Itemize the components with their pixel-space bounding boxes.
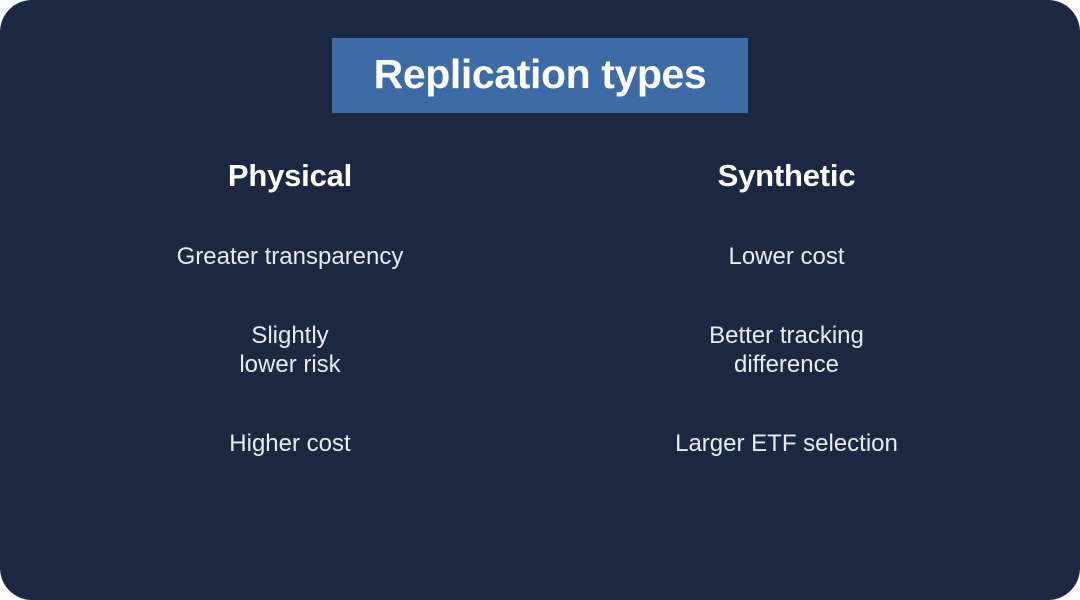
column-synthetic: Synthetic Lower cost Better tracking dif… [540, 160, 1080, 520]
column-heading-physical: Physical [228, 160, 352, 191]
page-title: Replication types [374, 54, 707, 95]
feature-item: Larger ETF selection [675, 429, 898, 458]
feature-list-physical: Greater transparency Slightly lower risk… [40, 191, 540, 458]
comparison-columns: Physical Greater transparency Slightly l… [0, 160, 1080, 520]
feature-item: Greater transparency [177, 242, 404, 271]
feature-item: Higher cost [229, 429, 350, 458]
title-highlight-box: Replication types [332, 38, 748, 113]
column-heading-synthetic: Synthetic [718, 160, 856, 191]
slide-card: Replication types Physical Greater trans… [0, 0, 1080, 600]
column-physical: Physical Greater transparency Slightly l… [0, 160, 540, 520]
feature-list-synthetic: Lower cost Better tracking difference La… [540, 191, 1033, 458]
feature-item: Better tracking difference [709, 321, 864, 379]
feature-item: Slightly lower risk [239, 321, 340, 379]
feature-item: Lower cost [728, 242, 844, 271]
